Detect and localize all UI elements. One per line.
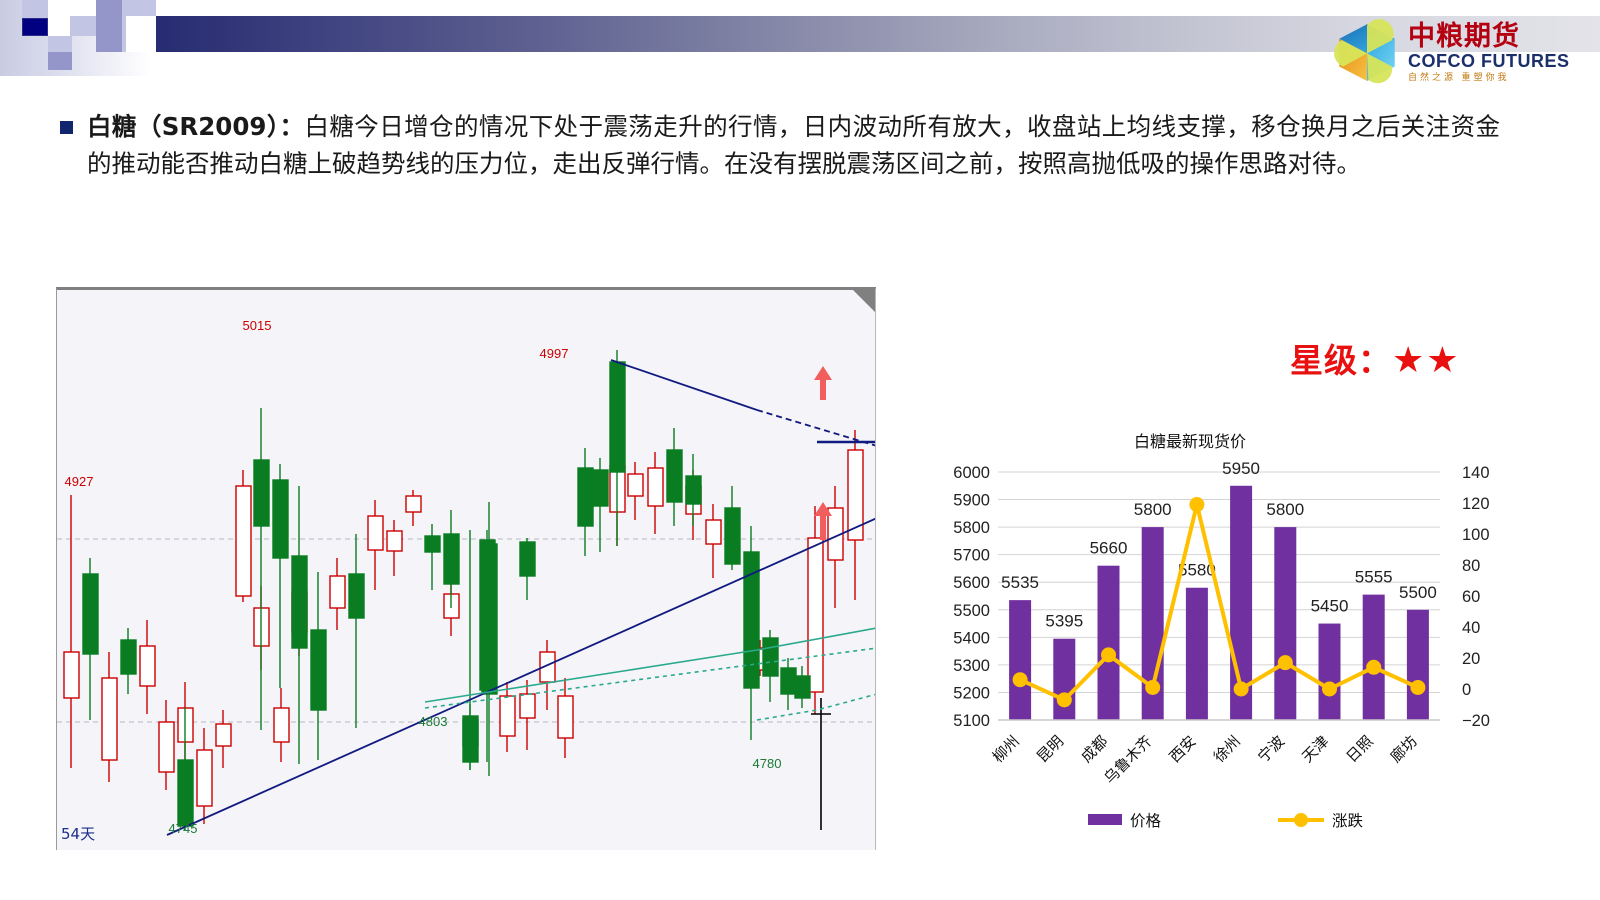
legend-marker-change	[1294, 813, 1308, 827]
bar-value-label: 5500	[1399, 583, 1437, 602]
svg-text:4745: 4745	[169, 821, 198, 836]
star-rating: 星级：★★	[1290, 334, 1461, 382]
candlestick-svg: 5015 4927 4997 4803 4745 4780	[57, 290, 876, 850]
svg-text:5015: 5015	[243, 318, 272, 333]
x-axis-category-label: 日照	[1343, 732, 1377, 766]
x-axis-category-label: 廊坊	[1387, 732, 1421, 766]
logo-cn-name: 中粮期货	[1408, 23, 1570, 50]
x-axis-category-label: 乌鲁木齐	[1100, 732, 1155, 787]
mosaic-tile-10	[22, 0, 48, 18]
x-axis-category-label: 柳州	[989, 732, 1023, 766]
logo-slogan: 自然之源 重塑你我	[1408, 73, 1570, 82]
mosaic-tile-3	[126, 16, 156, 52]
mosaic-tile-8	[48, 36, 72, 52]
bar[interactable]	[1186, 588, 1208, 720]
bar-value-label: 5800	[1134, 500, 1172, 519]
bullet-square-icon	[60, 121, 73, 134]
change-point[interactable]	[1145, 680, 1160, 695]
y-axis-tick: 6000	[953, 464, 990, 482]
chart-title: 白糖最新现货价	[920, 428, 1460, 452]
change-point[interactable]	[1013, 672, 1028, 687]
x-axis-category-label: 徐州	[1210, 732, 1244, 766]
y2-axis-tick: 40	[1462, 619, 1480, 637]
mosaic-tile-2	[126, 0, 156, 16]
bar[interactable]	[1274, 527, 1296, 720]
bar-value-label: 5800	[1266, 500, 1304, 519]
candlestick-chart-panel[interactable]: 5015 4927 4997 4803 4745 4780 54天	[56, 287, 876, 850]
y-axis-tick: 5600	[953, 574, 990, 592]
commentary-text: 白糖（SR2009）：白糖今日增仓的情况下处于震荡走升的行情，日内波动所有放大，…	[87, 108, 1500, 182]
bar-value-label: 5535	[1001, 573, 1039, 592]
mosaic-tile-12	[70, 16, 96, 36]
logo-en-name: COFCO FUTURES	[1408, 52, 1570, 70]
y2-axis-tick: 20	[1462, 650, 1480, 668]
svg-text:4927: 4927	[65, 474, 94, 489]
y-axis-tick: 5800	[953, 519, 990, 537]
y2-axis-tick: 140	[1462, 464, 1490, 482]
change-point[interactable]	[1189, 497, 1204, 512]
change-point[interactable]	[1057, 692, 1072, 707]
x-axis-category-label: 天津	[1298, 732, 1332, 766]
y-axis-tick: 5900	[953, 492, 990, 510]
change-point[interactable]	[1366, 660, 1381, 675]
change-line	[1020, 505, 1418, 700]
y2-axis-tick: 0	[1462, 681, 1471, 699]
y-axis-tick: 5400	[953, 629, 990, 647]
bar[interactable]	[1363, 595, 1385, 720]
legend-swatch-price	[1088, 814, 1122, 825]
bar[interactable]	[1319, 624, 1341, 720]
y-axis-tick: 5500	[953, 602, 990, 620]
legend-label-change: 涨跌	[1332, 812, 1363, 830]
bar[interactable]	[1407, 610, 1429, 720]
y-axis-tick: 5300	[953, 657, 990, 675]
bar[interactable]	[1053, 639, 1075, 720]
bar[interactable]	[1098, 566, 1120, 720]
svg-text:4780: 4780	[753, 756, 782, 771]
star-rating-label: 星级：	[1290, 341, 1392, 380]
y2-axis-tick: 100	[1462, 526, 1490, 544]
svg-text:4997: 4997	[540, 346, 569, 361]
y-axis-tick: 5700	[953, 547, 990, 565]
change-point[interactable]	[1278, 655, 1293, 670]
bar-value-label: 5950	[1222, 459, 1260, 478]
mosaic-tile-13	[96, 16, 122, 36]
cofco-logo: 中粮期货 COFCO FUTURES 自然之源 重塑你我	[1334, 16, 1584, 88]
cofco-cube-icon	[1334, 19, 1400, 85]
bar-value-label: 5450	[1311, 597, 1349, 616]
y2-axis-tick: −20	[1462, 712, 1490, 730]
bar[interactable]	[1009, 600, 1031, 720]
y2-axis-tick: 120	[1462, 495, 1490, 513]
x-axis-category-label: 成都	[1077, 732, 1111, 766]
change-point[interactable]	[1234, 682, 1249, 697]
svg-text:4803: 4803	[419, 714, 448, 729]
y-axis-tick: 5200	[953, 684, 990, 702]
mosaic-tile-dark	[22, 18, 48, 36]
mosaic-tile-7	[96, 36, 122, 52]
commentary-block: 白糖（SR2009）：白糖今日增仓的情况下处于震荡走升的行情，日内波动所有放大，…	[60, 108, 1500, 182]
spot-price-chart[interactable]: 白糖最新现货价 51005200530054005500560057005800…	[920, 420, 1580, 850]
y2-axis-tick: 80	[1462, 557, 1480, 575]
x-axis-category-label: 西安	[1166, 732, 1200, 766]
bar-value-label: 5555	[1355, 568, 1393, 587]
commentary-title: 白糖（SR2009）：	[87, 112, 304, 141]
y2-axis-tick: 60	[1462, 588, 1480, 606]
bar-chart-svg: 5100520053005400550056005700580059006000…	[920, 420, 1580, 850]
bar-value-label: 5395	[1045, 612, 1083, 631]
star-rating-stars: ★★	[1392, 340, 1461, 381]
x-axis-category-label: 宁波	[1254, 732, 1288, 766]
up-arrow-icons	[814, 366, 832, 540]
mosaic-tile-9	[48, 52, 72, 70]
x-axis-category-label: 昆明	[1033, 732, 1067, 766]
bar-value-label: 5660	[1090, 539, 1128, 558]
change-point[interactable]	[1322, 682, 1337, 697]
legend-label-price: 价格	[1130, 812, 1162, 830]
change-point[interactable]	[1410, 680, 1425, 695]
y-axis-tick: 5100	[953, 712, 990, 730]
candle-period-label: 54天	[61, 823, 95, 844]
candle-series	[64, 350, 863, 850]
change-point[interactable]	[1101, 647, 1116, 662]
